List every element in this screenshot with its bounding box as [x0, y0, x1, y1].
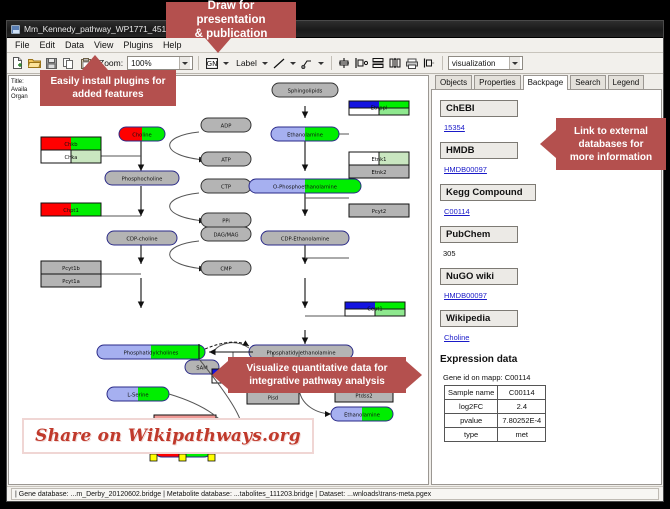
- svg-text:Chka: Chka: [64, 155, 77, 161]
- menu-item-edit[interactable]: Edit: [35, 39, 61, 51]
- menu-item-view[interactable]: View: [89, 39, 118, 51]
- gene-chkb-chka: Chkb Chka: [41, 137, 101, 163]
- datanode-dropdown-icon[interactable]: [221, 56, 230, 71]
- title-bar: Mm_Kennedy_pathway_WP1771_45176.gpml: [7, 21, 663, 38]
- toolbar-separator: [198, 56, 199, 70]
- status-bar: | Gene database: ...m_Derby_20120602.bri…: [7, 486, 663, 501]
- cell-key: type: [445, 428, 498, 442]
- gene-pcyt1b-pcyt1a: Pcyt1b Pcyt1a: [41, 261, 101, 287]
- svg-text:DAG/MAG: DAG/MAG: [213, 233, 238, 239]
- menu-item-plugins[interactable]: Plugins: [118, 39, 158, 51]
- cell-value: 2.4: [498, 400, 546, 414]
- datanode-icon[interactable]: GN: [204, 56, 219, 71]
- line-icon[interactable]: [272, 56, 287, 71]
- gene-id-label: Gene id on mapp: C00114: [443, 373, 653, 382]
- svg-text:Pcyt1b: Pcyt1b: [62, 266, 80, 272]
- svg-text:GN: GN: [206, 60, 217, 68]
- share-banner-text: Share on Wikipathways.org: [35, 426, 301, 446]
- side-panel-tabs: Objects Properties Backpage Search Legen…: [431, 75, 662, 90]
- save-disk-icon[interactable]: [44, 56, 59, 71]
- callout-links-line2: databases for: [578, 138, 643, 151]
- db-header-hmdb: HMDB: [440, 142, 518, 159]
- svg-text:Sphingolipids: Sphingolipids: [288, 89, 323, 95]
- cell-value: C00114: [498, 386, 546, 400]
- copy-icon[interactable]: [61, 56, 76, 71]
- callout-links-line3: more information: [570, 151, 652, 164]
- svg-text:CDP-choline: CDP-choline: [126, 237, 157, 243]
- visualization-caret-icon[interactable]: [509, 57, 520, 69]
- svg-text:Pcyt2: Pcyt2: [372, 209, 386, 215]
- open-folder-icon[interactable]: [27, 56, 42, 71]
- callout-draw-line2: & publication: [195, 27, 268, 41]
- svg-text:Etnppl: Etnppl: [371, 106, 388, 112]
- node-ethanolamine-bottom: Ethanolamine: [331, 407, 393, 421]
- db-header-chebi: ChEBI: [440, 100, 518, 117]
- new-file-icon[interactable]: [10, 56, 25, 71]
- node-choline-top: Choline: [119, 127, 165, 141]
- table-row: type met: [445, 428, 546, 442]
- node-cdp-ethanolamine: CDP-Ethanolamine: [261, 231, 349, 245]
- svg-text:Ethanolamine: Ethanolamine: [344, 413, 380, 419]
- cell-value: met: [498, 428, 546, 442]
- zoom-combo[interactable]: 100%: [127, 56, 193, 70]
- line-dropdown-icon[interactable]: [289, 56, 298, 71]
- callout-visualize-line2: integrative pathway analysis: [249, 375, 385, 388]
- node-ethanolamine: Ethanolamine: [271, 127, 339, 141]
- db-link-chebi[interactable]: 15354: [444, 123, 465, 132]
- callout-plugins: Easily install plugins for added feature…: [40, 70, 176, 106]
- cell-key: Sample name: [445, 386, 498, 400]
- svg-text:CDP-Ethanolamine: CDP-Ethanolamine: [281, 237, 329, 243]
- node-phosphatidylcholines: Phosphatidylcholines: [97, 345, 205, 359]
- cell-value: 7.80252E-4: [498, 414, 546, 428]
- expression-table: Sample name C00114 log2FC 2.4 pvalue 7.8…: [444, 385, 546, 442]
- share-banner: Share on Wikipathways.org: [22, 418, 314, 454]
- svg-text:PPi: PPi: [222, 219, 230, 225]
- order-icon[interactable]: [422, 56, 437, 71]
- cell-key: pvalue: [445, 414, 498, 428]
- visualization-value: visualization: [452, 59, 496, 68]
- app-icon: [11, 25, 20, 34]
- node-adp: ADP: [201, 118, 251, 132]
- menu-item-data[interactable]: Data: [60, 39, 89, 51]
- svg-text:Ethanolamine: Ethanolamine: [287, 133, 323, 139]
- db-value-pubchem: 305: [443, 249, 456, 258]
- svg-text:L-Serine: L-Serine: [127, 393, 148, 399]
- svg-text:ATP: ATP: [221, 158, 230, 164]
- node-l-serine-left: L-Serine: [107, 387, 169, 401]
- db-link-nugo[interactable]: HMDB00097: [444, 291, 487, 300]
- zoom-value: 100%: [131, 59, 151, 68]
- tab-legend[interactable]: Legend: [608, 75, 645, 89]
- stack-icon[interactable]: [371, 56, 386, 71]
- toolbar-separator-3: [442, 56, 443, 70]
- align-left-icon[interactable]: [354, 56, 369, 71]
- align-icon[interactable]: [337, 56, 352, 71]
- print-icon[interactable]: [405, 56, 420, 71]
- callout-links-line1: Link to external: [574, 125, 648, 138]
- gene-etnppl: Etnppl: [349, 101, 409, 115]
- callout-visualize-arrow-left-icon: [212, 361, 228, 389]
- table-row: Sample name C00114: [445, 386, 546, 400]
- node-ppi: PPi: [201, 213, 251, 227]
- svg-text:Cept1: Cept1: [367, 307, 382, 313]
- svg-text:Pisd: Pisd: [268, 396, 278, 402]
- node-phosphocholine: Phosphocholine: [105, 171, 179, 185]
- callout-links-arrow-icon: [540, 130, 556, 158]
- menu-item-file[interactable]: File: [10, 39, 35, 51]
- table-row: log2FC 2.4: [445, 400, 546, 414]
- interaction-dropdown-icon[interactable]: [317, 56, 326, 71]
- db-link-hmdb[interactable]: HMDB00097: [444, 165, 487, 174]
- gene-chpt1: Chpt1: [41, 203, 101, 216]
- svg-text:Phosphatidylcholines: Phosphatidylcholines: [124, 351, 179, 357]
- svg-text:Pcyt1a: Pcyt1a: [62, 279, 80, 285]
- cell-key: log2FC: [445, 400, 498, 414]
- db-header-nugo: NuGO wiki: [440, 268, 518, 285]
- svg-text:Phosphocholine: Phosphocholine: [122, 177, 163, 183]
- db-header-kegg: Kegg Compound: [440, 184, 536, 201]
- callout-plugins-line1: Easily install plugins for: [50, 75, 165, 88]
- db-header-pubchem: PubChem: [440, 226, 518, 243]
- callout-visualize-arrow-right-icon: [406, 361, 422, 389]
- node-ctp: CTP: [201, 179, 251, 193]
- callout-links: Link to external databases for more info…: [556, 118, 666, 170]
- gene-pcyt2: Pcyt2: [349, 204, 409, 217]
- svg-text:Etnk2: Etnk2: [372, 170, 387, 176]
- zoom-caret-icon[interactable]: [179, 57, 190, 69]
- tab-search[interactable]: Search: [570, 75, 605, 89]
- label-dropdown-icon[interactable]: [261, 56, 270, 71]
- node-o-phosphoethanolamine: O-Phosphoethanolamine: [249, 179, 361, 193]
- svg-text:ADP: ADP: [221, 124, 232, 130]
- db-header-wikipedia: Wikipedia: [440, 310, 518, 327]
- interaction-icon[interactable]: [300, 56, 315, 71]
- db-link-wikipedia[interactable]: Choline: [444, 333, 469, 342]
- table-row: pvalue 7.80252E-4: [445, 414, 546, 428]
- svg-text:Etnk1: Etnk1: [372, 157, 387, 163]
- callout-draw: Draw for presentation & publication: [166, 2, 296, 38]
- svg-text:Choline: Choline: [132, 133, 151, 139]
- gene-etnk1-etnk2: Etnk1 Etnk2: [349, 152, 409, 178]
- node-atp: ATP: [201, 152, 251, 166]
- toolbar-separator-2: [331, 56, 332, 70]
- tab-backpage[interactable]: Backpage: [523, 75, 569, 90]
- callout-plugins-arrow-icon: [82, 55, 108, 70]
- node-sphingolipids: Sphingolipids: [272, 83, 338, 97]
- callout-visualize-line1: Visualize quantitative data for: [247, 362, 388, 375]
- callout-draw-line1: Draw for presentation: [174, 0, 288, 27]
- same-size-icon[interactable]: [388, 56, 403, 71]
- expression-data-heading: Expression data: [440, 354, 653, 365]
- gene-cept1: Cept1: [345, 302, 405, 316]
- tab-properties[interactable]: Properties: [474, 75, 520, 89]
- svg-text:Ptdss2: Ptdss2: [355, 394, 372, 400]
- svg-text:Phosphatidylethanolamine: Phosphatidylethanolamine: [266, 351, 335, 357]
- menu-bar: File Edit Data View Plugins Help: [7, 38, 663, 53]
- db-link-kegg[interactable]: C00114: [444, 207, 470, 216]
- tab-objects[interactable]: Objects: [435, 75, 472, 89]
- svg-text:CTP: CTP: [221, 185, 231, 191]
- callout-plugins-line2: added features: [72, 88, 143, 101]
- svg-text:Chkb: Chkb: [64, 142, 78, 148]
- callout-visualize: Visualize quantitative data for integrat…: [228, 357, 406, 393]
- label-tool-label: Label: [236, 58, 257, 68]
- node-cmp: CMP: [201, 261, 251, 275]
- svg-text:Chpt1: Chpt1: [63, 208, 79, 214]
- node-cdp-choline: CDP-choline: [107, 231, 177, 245]
- svg-text:O-Phosphoethanolamine: O-Phosphoethanolamine: [273, 185, 337, 191]
- menu-item-help[interactable]: Help: [158, 39, 187, 51]
- svg-text:CMP: CMP: [220, 267, 231, 273]
- node-dagmag: DAG/MAG: [201, 227, 251, 241]
- visualization-combo[interactable]: visualization: [448, 56, 523, 70]
- status-text: | Gene database: ...m_Derby_20120602.bri…: [11, 488, 659, 500]
